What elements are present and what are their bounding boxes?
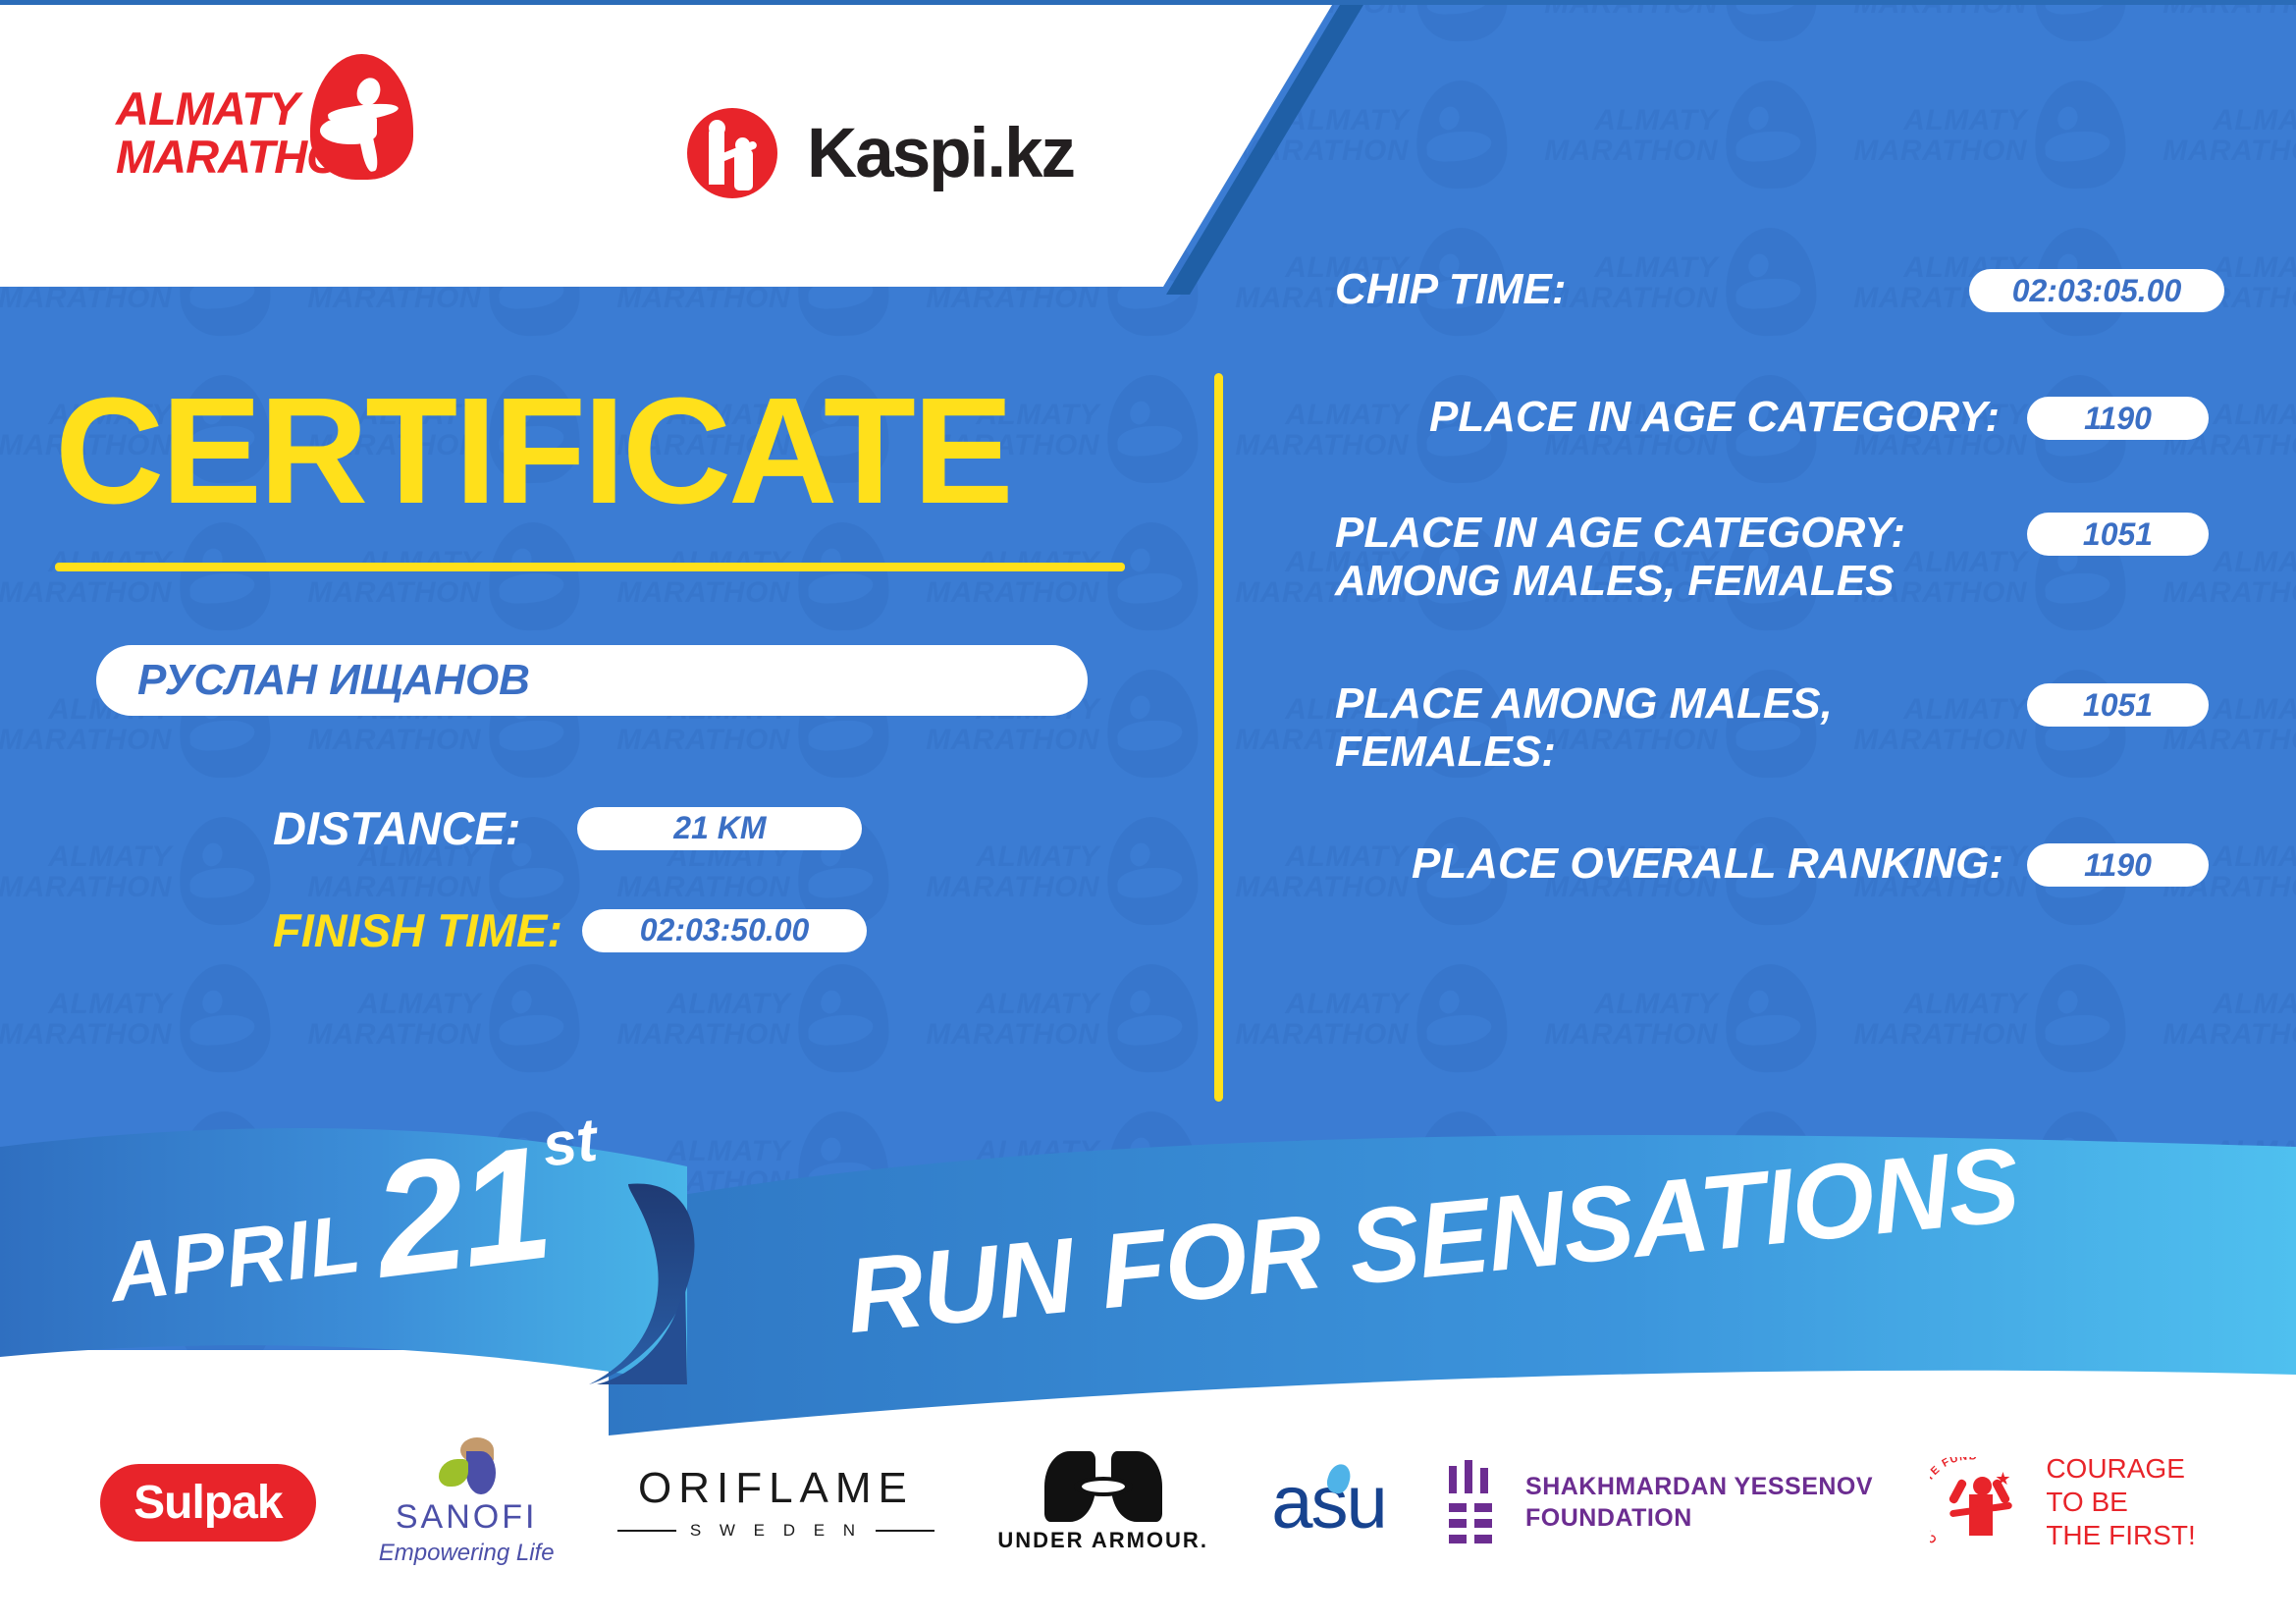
courage-fund-icon: CORPORATE FUND ★	[1936, 1455, 2030, 1549]
watermark-drop-icon	[2033, 962, 2127, 1073]
watermark-drop-icon	[178, 520, 272, 631]
watermark-drop-icon	[2033, 79, 2127, 189]
stat-chip-time: CHIP TIME: 02:03:05.00	[1276, 265, 2258, 313]
watermark-drop-icon	[487, 962, 581, 1073]
watermark-drop-icon	[178, 962, 272, 1073]
watermark-drop-icon	[1415, 79, 1509, 189]
kaspi-wordmark: Kaspi.kz	[807, 114, 1074, 193]
under-armour-wordmark: UNDER ARMOUR.	[997, 1528, 1208, 1553]
header-top-rule	[0, 0, 2296, 5]
watermark-drop-icon	[1724, 79, 1818, 189]
oriflame-wordmark: ORIFLAME	[638, 1464, 914, 1513]
watermark-tile: ALMATY MARATHON	[1212, 972, 1507, 1085]
watermark-text: ALMATY MARATHON	[903, 842, 1099, 903]
sanofi-wordmark: SANOFI	[396, 1498, 538, 1537]
sponsor-under-armour: UNDER ARMOUR.	[997, 1451, 1208, 1553]
watermark-text: ALMATY MARATHON	[2140, 990, 2296, 1051]
watermark-drop-icon	[1105, 815, 1200, 926]
athlete-name-value: РУСЛАН ИЩАНОВ	[137, 656, 530, 705]
watermark-text: ALMATY MARATHON	[285, 548, 481, 609]
watermark-text: ALMATY MARATHON	[1522, 990, 1718, 1051]
sponsor-asu: asu	[1271, 1460, 1386, 1545]
stat-place-age-category-among-value: 1051	[2027, 513, 2209, 556]
watermark-drop-icon	[796, 520, 890, 631]
athlete-name-field: РУСЛАН ИЩАНОВ	[96, 645, 1088, 716]
sponsor-courage-fund: CORPORATE FUND ★ COURAGE TO BE THE FIRST…	[1936, 1452, 2195, 1552]
watermark-text: ALMATY MARATHON	[0, 990, 172, 1051]
stat-place-age-category-label: PLACE IN AGE CATEGORY:	[1276, 393, 2027, 441]
kaspi-logo: Kaspi.kz	[687, 108, 1074, 198]
watermark-drop-icon	[1415, 0, 1509, 43]
watermark-tile: ALMATY MARATHON	[1831, 972, 2125, 1085]
watermark-tile: ALMATY MARATHON	[1522, 0, 1816, 54]
watermark-drop-icon	[1415, 962, 1509, 1073]
watermark-tile: ALMATY MARATHON	[594, 972, 888, 1085]
stat-place-among-males-females: PLACE AMONG MALES, FEMALES: 1051	[1276, 679, 2258, 777]
sponsor-oriflame: ORIFLAME S W E D E N	[617, 1464, 934, 1541]
under-armour-icon	[1044, 1451, 1162, 1522]
sanofi-tagline: Empowering Life	[379, 1540, 555, 1567]
watermark-drop-icon	[487, 520, 581, 631]
watermark-drop-icon	[796, 962, 890, 1073]
watermark-tile: ALMATY MARATHON	[0, 530, 270, 643]
stat-place-overall-ranking-value: 1190	[2027, 843, 2209, 887]
watermark-text: ALMATY MARATHON	[0, 842, 172, 903]
stat-place-overall-ranking: PLACE OVERALL RANKING: 1190	[1276, 839, 2258, 888]
watermark-text: ALMATY MARATHON	[594, 548, 790, 609]
page-title: CERTIFICATE	[55, 375, 1011, 526]
watermark-tile: ALMATY MARATHON	[1831, 88, 2125, 201]
stat-place-age-category: PLACE IN AGE CATEGORY: 1190	[1276, 393, 2258, 441]
sponsor-sanofi: SANOFI Empowering Life	[379, 1437, 555, 1567]
watermark-drop-icon	[1724, 0, 1818, 43]
distance-value: 21 KM	[577, 807, 862, 850]
ribbon-day: 21	[368, 1137, 555, 1289]
watermark-tile: ALMATY MARATHON	[1522, 972, 1816, 1085]
almaty-marathon-logo: ALMATY MARATHON	[116, 54, 450, 187]
stat-place-age-category-among: PLACE IN AGE CATEGORY: AMONG MALES, FEMA…	[1276, 509, 2258, 606]
watermark-tile: ALMATY MARATHON	[285, 972, 579, 1085]
watermark-tile: ALMATY MARATHON	[903, 530, 1198, 643]
distance-label: DISTANCE:	[273, 801, 520, 855]
sulpak-logo: Sulpak	[100, 1464, 315, 1542]
oriflame-tagline-row: S W E D E N	[617, 1521, 934, 1541]
watermark-tile: ALMATY MARATHON	[2140, 0, 2296, 54]
yessenov-icon	[1449, 1460, 1504, 1544]
watermark-drop-icon	[1105, 520, 1200, 631]
almaty-marathon-line1: ALMATY	[116, 82, 298, 135]
watermark-text: ALMATY MARATHON	[1831, 990, 2027, 1051]
watermark-drop-icon	[2033, 0, 2127, 43]
stat-place-among-males-females-label: PLACE AMONG MALES, FEMALES:	[1276, 679, 2027, 777]
watermark-text: ALMATY MARATHON	[2140, 106, 2296, 167]
yessenov-wordmark: SHAKHMARDAN YESSENOV FOUNDATION	[1525, 1471, 1873, 1534]
oriflame-rule-left	[617, 1530, 676, 1532]
certificate-canvas: ALMATY MARATHONALMATY MARATHONALMATY MAR…	[0, 0, 2296, 1624]
watermark-tile: ALMATY MARATHON	[1831, 0, 2125, 54]
watermark-tile: ALMATY MARATHON	[903, 825, 1198, 938]
watermark-tile: ALMATY MARATHON	[0, 972, 270, 1085]
watermark-tile: ALMATY MARATHON	[2140, 972, 2296, 1085]
watermark-tile: ALMATY MARATHON	[0, 825, 270, 938]
sponsor-yessenov-foundation: SHAKHMARDAN YESSENOV FOUNDATION	[1449, 1460, 1873, 1544]
finish-time-label: FINISH TIME:	[273, 903, 562, 957]
stat-place-overall-ranking-label: PLACE OVERALL RANKING:	[1276, 839, 2027, 888]
watermark-drop-icon	[1105, 373, 1200, 484]
column-divider	[1214, 373, 1223, 1102]
watermark-text: ALMATY MARATHON	[1522, 106, 1718, 167]
sponsor-sulpak: Sulpak	[100, 1464, 315, 1542]
watermark-text: ALMATY MARATHON	[903, 990, 1099, 1051]
watermark-tile: ALMATY MARATHON	[903, 972, 1198, 1085]
ribbon-day-suffix: st	[539, 1106, 601, 1181]
sanofi-icon	[431, 1437, 502, 1494]
stat-place-age-category-among-label: PLACE IN AGE CATEGORY: AMONG MALES, FEMA…	[1276, 509, 2027, 606]
watermark-text: ALMATY MARATHON	[0, 548, 172, 609]
kaspi-figures-icon	[687, 108, 777, 198]
watermark-text: ALMATY MARATHON	[594, 990, 790, 1051]
watermark-drop-icon	[1105, 962, 1200, 1073]
watermark-tile: ALMATY MARATHON	[594, 530, 888, 643]
field-distance: DISTANCE: 21 KM	[273, 801, 862, 855]
oriflame-tagline: S W E D E N	[690, 1521, 862, 1541]
watermark-drop-icon	[1724, 962, 1818, 1073]
runner-drop-icon	[310, 54, 413, 180]
watermark-text: ALMATY MARATHON	[1212, 990, 1409, 1051]
watermark-drop-icon	[178, 815, 272, 926]
watermark-text: ALMATY MARATHON	[1831, 106, 2027, 167]
watermark-text: ALMATY MARATHON	[903, 548, 1099, 609]
field-finish-time: FINISH TIME: 02:03:50.00	[273, 903, 867, 957]
stat-chip-time-value: 02:03:05.00	[1969, 269, 2224, 312]
watermark-tile: ALMATY MARATHON	[285, 530, 579, 643]
stat-place-age-category-value: 1190	[2027, 397, 2209, 440]
sponsor-logos: Sulpak SANOFI Empowering Life ORIFLAME S…	[0, 1414, 2296, 1591]
stat-chip-time-label: CHIP TIME:	[1276, 265, 1969, 313]
stat-place-among-males-females-value: 1051	[2027, 683, 2209, 727]
finish-time-value: 02:03:50.00	[582, 909, 867, 952]
watermark-drop-icon	[1105, 668, 1200, 779]
title-underline	[55, 563, 1125, 571]
watermark-tile: ALMATY MARATHON	[1522, 88, 1816, 201]
watermark-text: ALMATY MARATHON	[285, 990, 481, 1051]
courage-fund-wordmark: COURAGE TO BE THE FIRST!	[2046, 1452, 2195, 1552]
watermark-tile: ALMATY MARATHON	[2140, 88, 2296, 201]
oriflame-rule-right	[876, 1530, 934, 1532]
